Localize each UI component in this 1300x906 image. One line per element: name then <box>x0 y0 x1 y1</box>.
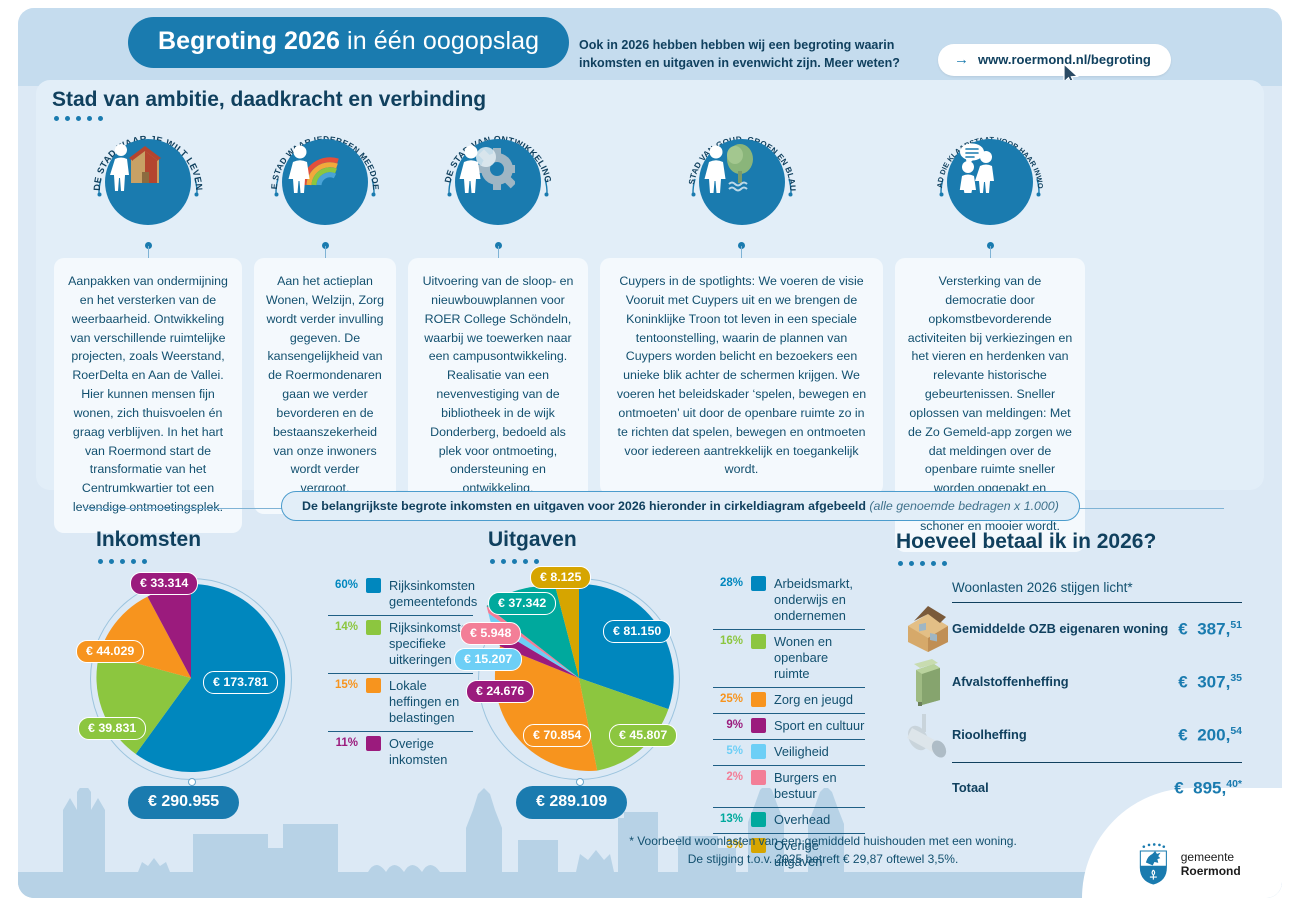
pie-value-tag-sport: € 24.676 <box>466 680 534 703</box>
heading-dots-uitgaven <box>490 559 539 564</box>
pay-row-label: Afvalstoffenheffing <box>952 674 1178 691</box>
legend-item[interactable]: 16% Wonen en openbare ruimte <box>713 630 865 688</box>
pie-value-tag-gemeentefonds: € 173.781 <box>203 671 278 694</box>
currency-symbol: € <box>1178 725 1187 744</box>
cents: 35 <box>1230 672 1242 684</box>
legend-label: Rijksinkomsten gemeentefonds <box>389 578 477 610</box>
currency-symbol: € <box>1178 672 1187 691</box>
heading-dots-ambition <box>54 116 103 121</box>
pie-value-tag-lokale: € 44.029 <box>76 640 144 663</box>
house-icon <box>902 604 954 652</box>
legend-swatch <box>751 744 766 759</box>
legend-item[interactable]: 5% Veiligheid <box>713 740 865 766</box>
ambition-panel: Stad van ambitie, daadkracht en verbindi… <box>36 80 1264 490</box>
legend-swatch <box>366 620 381 635</box>
total-uitgaven: € 289.109 <box>516 786 627 819</box>
pillar-columns: DE STAD WAAR JE WILT LEVEN <box>54 122 1244 552</box>
table-row: Rioolheffing € 200,54 <box>952 709 1242 762</box>
gemeente-roermond-logo: gemeente Roermond <box>1136 840 1282 888</box>
legend-percent: 14% <box>328 620 358 633</box>
pillar-4: DE STAD VAN GOUD, GROEN EN BLAUW <box>600 122 883 552</box>
legend-swatch <box>366 736 381 751</box>
pie-value-tag-overige: € 33.314 <box>130 572 198 595</box>
legend-percent: 28% <box>713 576 743 589</box>
legend-label: Wonen en openbare ruimte <box>774 634 865 682</box>
title-bold: Begroting 2026 <box>158 27 340 55</box>
total-inkomsten: € 290.955 <box>128 786 239 819</box>
pay-row-label: Gemiddelde OZB eigenaren woning <box>952 621 1178 638</box>
heading-dots-inkomsten <box>98 559 147 564</box>
footnote-line-1: * Voorbeeld woonlasten van een gemiddeld… <box>588 832 1058 850</box>
legend-percent: 25% <box>713 692 743 705</box>
legend-swatch <box>751 576 766 591</box>
currency-symbol: € <box>1174 779 1183 798</box>
pie-uitgaven: € 8.125 € 37.342 € 5.948 € 15.207 € 24.6… <box>478 578 688 780</box>
badge-de-stad-waar-iedereen-meedoet: DE STAD WAAR IEDEREEN MEEDOET <box>265 122 385 242</box>
table-row-total: Totaal € 895,40* <box>952 762 1242 815</box>
intro-line-2: inkomsten en uitgaven in evenwicht zijn.… <box>579 54 900 72</box>
pillar-5: DE STAD DIE KLAARSTAAT VOOR HAAR INWONER… <box>895 122 1085 552</box>
divider-text: De belangrijkste begrote inkomsten en ui… <box>302 499 869 513</box>
legend-uitgaven: 28% Arbeidsmarkt, onderwijs en onderneme… <box>713 572 865 875</box>
connector-line-2 <box>325 246 326 258</box>
legend-percent: 9% <box>713 718 743 731</box>
legend-inkomsten: 60% Rijksinkomsten gemeentefonds 14% Rij… <box>328 574 473 773</box>
connector-line-1 <box>148 246 149 258</box>
coat-of-arms-icon <box>1136 840 1171 888</box>
person-rainbow-icon <box>282 139 368 225</box>
pie-inkomsten: € 33.314 € 44.029 € 39.831 € 173.781 <box>90 578 300 780</box>
logo-prefix: gemeente <box>1181 850 1234 864</box>
legend-label: Burgers en bestuur <box>774 770 865 802</box>
legend-label: Zorg en jeugd <box>774 692 853 708</box>
legend-item[interactable]: 9% Sport en cultuur <box>713 714 865 740</box>
chart-title-inkomsten: Inkomsten <box>96 528 201 552</box>
legend-item[interactable]: 11% Overige inkomsten <box>328 732 473 773</box>
pay-subtitle: Woonlasten 2026 stijgen licht* <box>952 580 1246 595</box>
legend-item[interactable]: 60% Rijksinkomsten gemeentefonds <box>328 574 473 616</box>
badge-de-stad-van-ontwikkeling: DE STAD VAN ONTWIKKELING <box>438 122 558 242</box>
badge-de-stad-waar-je-wilt-leven: DE STAD WAAR JE WILT LEVEN <box>88 122 208 242</box>
connector-line-4 <box>741 246 742 258</box>
person-tree-water-icon <box>699 139 785 225</box>
sewer-pipe-icon <box>902 710 954 758</box>
cents: 51 <box>1230 619 1242 631</box>
legend-swatch <box>366 678 381 693</box>
cents: 54 <box>1230 725 1242 737</box>
pie-value-tag-overige-uitgaven: € 8.125 <box>530 566 591 589</box>
legend-swatch <box>751 770 766 785</box>
pie-value-tag-burgers: € 5.948 <box>460 622 521 645</box>
two-persons-speech-icon <box>947 139 1033 225</box>
section-divider: De belangrijkste begrote inkomsten en ui… <box>84 491 1224 525</box>
legend-percent: 15% <box>328 678 358 691</box>
amount: 200, <box>1197 725 1230 744</box>
legend-item[interactable]: 15% Lokale heffingen en belastingen <box>328 674 473 732</box>
total-knob-uitgaven <box>576 778 584 786</box>
pay-row-label: Rioolheffing <box>952 727 1178 744</box>
connector-line-5 <box>990 246 991 258</box>
pie-value-tag-overhead: € 37.342 <box>488 592 556 615</box>
pie-value-tag-zorg: € 70.854 <box>523 724 591 747</box>
amount: 387, <box>1197 619 1230 638</box>
logo-text: gemeente Roermond <box>1181 850 1282 878</box>
heading-dots-pay <box>898 561 947 566</box>
table-row: Afvalstoffenheffing € 307,35 <box>952 656 1242 709</box>
arrow-right-icon: → <box>954 51 969 68</box>
pay-table: Gemiddelde OZB eigenaren woning € 387,51… <box>952 602 1242 815</box>
website-link-button[interactable]: → www.roermond.nl/begroting <box>938 44 1171 76</box>
pie-value-tag-veiligheid: € 15.207 <box>454 648 522 671</box>
footnote-line-2: De stijging t.o.v. 2025 betreft € 29,87 … <box>588 850 1058 868</box>
intro-line-1: Ook in 2026 hebben hebben wij een begrot… <box>579 36 900 54</box>
chart-title-uitgaven: Uitgaven <box>488 528 577 552</box>
legend-swatch <box>366 578 381 593</box>
divider-banner: De belangrijkste begrote inkomsten en ui… <box>281 491 1080 521</box>
logo-name: Roermond <box>1181 864 1241 878</box>
currency-symbol: € <box>1178 619 1187 638</box>
total-knob-inkomsten <box>188 778 196 786</box>
person-gear-icon <box>455 139 541 225</box>
legend-swatch <box>751 634 766 649</box>
pie-value-tag-specifieke: € 39.831 <box>78 717 146 740</box>
chart-uitgaven: Uitgaven € 8.125 € 37.342 € 5.948 € 15.2… <box>470 528 880 828</box>
pay-row-value: € 387,51 <box>1178 619 1242 640</box>
legend-label: Overhead <box>774 812 830 828</box>
legend-swatch <box>751 718 766 733</box>
title-rest: in één oogopslag <box>340 27 539 55</box>
pay-total-label: Totaal <box>952 780 1174 797</box>
pillar-card-4: Cuypers in de spotlights: We voeren de v… <box>600 258 883 495</box>
legend-item[interactable]: 25% Zorg en jeugd <box>713 688 865 714</box>
legend-label: Arbeidsmarkt, onderwijs en ondernemen <box>774 576 865 624</box>
pillar-card-3: Uitvoering van de sloop- en nieuwbouwpla… <box>408 258 588 514</box>
divider-note: (alle genoemde bedragen x 1.000) <box>869 499 1058 513</box>
legend-label: Veiligheid <box>774 744 829 760</box>
amount: 895, <box>1193 779 1226 798</box>
legend-swatch <box>751 692 766 707</box>
waste-bin-icon <box>902 658 954 706</box>
legend-label: Sport en cultuur <box>774 718 864 734</box>
pay-row-value: € 200,54 <box>1178 725 1242 746</box>
legend-swatch <box>751 812 766 827</box>
connector-line-3 <box>498 246 499 258</box>
table-row: Gemiddelde OZB eigenaren woning € 387,51 <box>952 603 1242 656</box>
legend-percent: 2% <box>713 770 743 783</box>
pie-value-tag-arbeidsmarkt: € 81.150 <box>603 620 671 643</box>
legend-percent: 16% <box>713 634 743 647</box>
legend-percent: 11% <box>328 736 358 749</box>
cents: 40* <box>1226 778 1242 790</box>
pillar-3: DE STAD VAN ONTWIKKELING <box>408 122 588 552</box>
pay-total-value: € 895,40* <box>1174 778 1242 799</box>
pillar-1: DE STAD WAAR JE WILT LEVEN <box>54 122 242 552</box>
amount: 307, <box>1197 672 1230 691</box>
page-title: Begroting 2026 in één oogopslag <box>128 17 569 68</box>
legend-percent: 5% <box>713 744 743 757</box>
legend-item[interactable]: 13% Overhead <box>713 808 865 834</box>
pay-heading: Hoeveel betaal ik in 2026? <box>896 530 1246 554</box>
person-house-icon <box>105 139 191 225</box>
legend-percent: 13% <box>713 812 743 825</box>
legend-item[interactable]: 2% Burgers en bestuur <box>713 766 865 808</box>
legend-percent: 60% <box>328 578 358 591</box>
legend-item[interactable]: 14% Rijksinkomsten specifieke uitkeringe… <box>328 616 473 674</box>
badge-de-stad-van-goud-groen-en-blauw: DE STAD VAN GOUD, GROEN EN BLAUW <box>682 122 802 242</box>
badge-de-stad-die-klaarstaat-voor-haar-inwoners: DE STAD DIE KLAARSTAAT VOOR HAAR INWONER… <box>930 122 1050 242</box>
pay-row-value: € 307,35 <box>1178 672 1242 693</box>
pie-value-tag-wonen: € 45.807 <box>609 724 677 747</box>
pay-footnote: * Voorbeeld woonlasten van een gemiddeld… <box>588 832 1058 868</box>
ambition-heading: Stad van ambitie, daadkracht en verbindi… <box>52 88 486 112</box>
infographic-page: Begroting 2026 in één oogopslag Ook in 2… <box>18 8 1282 898</box>
legend-item[interactable]: 28% Arbeidsmarkt, onderwijs en onderneme… <box>713 572 865 630</box>
legend-label: Overige inkomsten <box>389 736 473 768</box>
pillar-2: DE STAD WAAR IEDEREEN MEEDOET <box>254 122 396 552</box>
pillar-card-2: Aan het actieplan Wonen, Welzijn, Zorg w… <box>254 258 396 514</box>
chart-inkomsten: Inkomsten € 33.314 € 44.029 € 39.831 € 1… <box>78 528 478 828</box>
header-intro-text: Ook in 2026 hebben hebben wij een begrot… <box>579 36 900 72</box>
legend-label: Lokale heffingen en belastingen <box>389 678 473 726</box>
